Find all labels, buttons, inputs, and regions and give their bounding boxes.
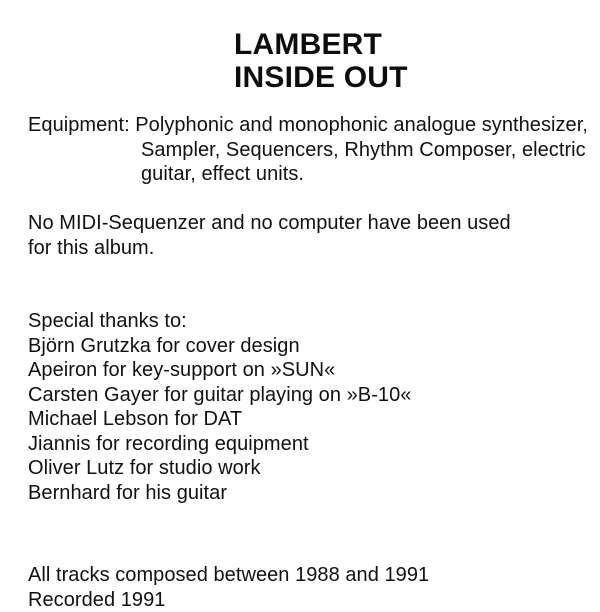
thanks-item: Björn Grutzka for cover design	[28, 334, 594, 359]
credits-footer: All tracks composed between 1988 and 199…	[28, 563, 594, 612]
special-thanks-heading: Special thanks to:	[28, 309, 594, 334]
spacer-before-thanks	[28, 260, 594, 309]
spacer-after-equipment	[28, 187, 594, 212]
equipment-line-1: Equipment: Polyphonic and monophonic ana…	[28, 113, 594, 138]
equipment-line-3: guitar, effect units.	[28, 162, 594, 187]
special-thanks-block: Special thanks to: Björn Grutzka for cov…	[28, 309, 594, 505]
midi-note-paragraph: No MIDI-Sequenzer and no computer have b…	[28, 211, 594, 260]
thanks-item: Carsten Gayer for guitar playing on »B-1…	[28, 383, 594, 408]
thanks-item: Michael Lebson for DAT	[28, 407, 594, 432]
album-title-block: LAMBERT INSIDE OUT	[234, 28, 408, 94]
composition-years: All tracks composed between 1988 and 199…	[28, 563, 594, 588]
album-name: INSIDE OUT	[234, 61, 408, 94]
midi-note-line-2: for this album.	[28, 236, 594, 261]
midi-note-line-1: No MIDI-Sequenzer and no computer have b…	[28, 211, 594, 236]
thanks-item: Oliver Lutz for studio work	[28, 456, 594, 481]
thanks-item: Jiannis for recording equipment	[28, 432, 594, 457]
liner-notes-body: Equipment: Polyphonic and monophonic ana…	[28, 113, 594, 612]
spacer-before-footer	[28, 505, 594, 563]
artist-name: LAMBERT	[234, 28, 408, 61]
equipment-line-2: Sampler, Sequencers, Rhythm Composer, el…	[28, 138, 594, 163]
thanks-item: Apeiron for key-support on »SUN«	[28, 358, 594, 383]
thanks-item: Bernhard for his guitar	[28, 481, 594, 506]
equipment-paragraph: Equipment: Polyphonic and monophonic ana…	[28, 113, 594, 187]
liner-notes-sheet: LAMBERT INSIDE OUT Equipment: Polyphonic…	[0, 0, 600, 600]
